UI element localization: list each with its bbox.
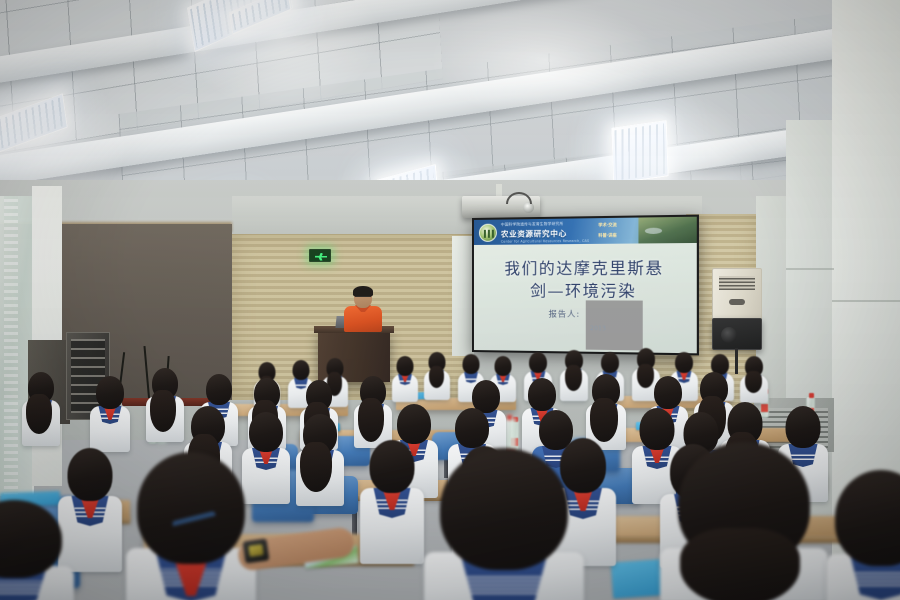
- ac-brand-plate: [729, 299, 745, 305]
- banner-photo-image: [638, 217, 696, 244]
- student-head: [495, 356, 512, 376]
- ponytail: [565, 365, 582, 391]
- student-head: [529, 352, 547, 373]
- student-foreground: [826, 470, 900, 600]
- slide-presenter-label: 报告人:: [549, 308, 581, 319]
- slide-date-text: 2013: [590, 325, 606, 332]
- glasses-icon: [355, 296, 371, 300]
- student: [392, 356, 418, 400]
- slide-title: 我们的达摩克里斯悬 剑—环境污染: [474, 257, 697, 304]
- student: [296, 414, 344, 504]
- screen-surface: 中国科学院遗传与发育生物学研究所 农业资源研究中心 Center for Agr…: [474, 217, 697, 354]
- student: [90, 376, 130, 450]
- column-seam: [786, 268, 834, 270]
- student-head: [601, 352, 619, 373]
- slide-title-line-1: 我们的达摩克里斯悬: [474, 257, 697, 281]
- student: [22, 372, 60, 444]
- student-head: [137, 452, 245, 564]
- ponytail: [300, 442, 332, 492]
- student: [360, 440, 424, 560]
- student: [740, 356, 768, 402]
- student-head: [249, 412, 283, 452]
- student-head: [397, 404, 431, 444]
- slide-tag-right: 科普·讲座: [598, 232, 616, 238]
- student: [586, 374, 626, 448]
- student: [146, 368, 184, 440]
- student-head: [528, 378, 556, 411]
- student-head: [463, 354, 480, 374]
- student-head: [96, 376, 124, 409]
- classroom-photo: 中国科学院遗传与发育生物学研究所 农业资源研究中心 Center for Agr…: [0, 0, 900, 600]
- wristwatch-face: [248, 544, 263, 557]
- student: [560, 350, 588, 400]
- running-person-icon: [315, 253, 327, 261]
- ponytail: [745, 371, 762, 393]
- presenter: [342, 288, 384, 330]
- column-seam: [832, 300, 900, 302]
- emergency-exit-sign: [309, 249, 331, 262]
- ac-column-left: [452, 236, 474, 356]
- speaker-mount-arm: [735, 348, 738, 374]
- student-head: [370, 440, 415, 493]
- student: [354, 376, 392, 446]
- student-head: [68, 448, 113, 501]
- ponytail: [680, 528, 800, 600]
- ceiling-light-panel: [611, 120, 668, 184]
- student-head: [835, 470, 900, 566]
- student: [424, 352, 450, 398]
- student-head: [206, 374, 232, 405]
- ponytail: [26, 394, 52, 434]
- air-conditioner-unit: [712, 268, 762, 322]
- slide-tag-left: 学术·交流: [598, 222, 616, 228]
- ponytail: [429, 366, 444, 388]
- slide-header-banner: 中国科学院遗传与发育生物学研究所 农业资源研究中心 Center for Agr…: [474, 217, 697, 245]
- student-head: [397, 356, 414, 376]
- student-head: [654, 376, 682, 409]
- ac-vent-grille: [719, 276, 755, 290]
- slide-org-name-en: Center for Agricultural Resources Resear…: [501, 238, 589, 243]
- student-foreground: [126, 452, 256, 600]
- student-head: [440, 448, 568, 570]
- student-foreground: [0, 500, 74, 600]
- ponytail: [358, 398, 384, 442]
- student-head: [675, 352, 693, 373]
- student-head: [293, 360, 310, 380]
- slide-org-line-top: 中国科学院遗传与发育生物学研究所: [501, 221, 564, 227]
- student-foreground: [424, 448, 584, 600]
- institute-logo-icon: [479, 223, 497, 241]
- ponytail: [590, 398, 618, 442]
- wall-speaker: [712, 318, 762, 350]
- student-foreground: [660, 442, 828, 600]
- projection-screen: 中国科学院遗传与发育生物学研究所 农业资源研究中心 Center for Agr…: [472, 215, 699, 356]
- student-head: [455, 408, 489, 448]
- ponytail: [150, 390, 176, 432]
